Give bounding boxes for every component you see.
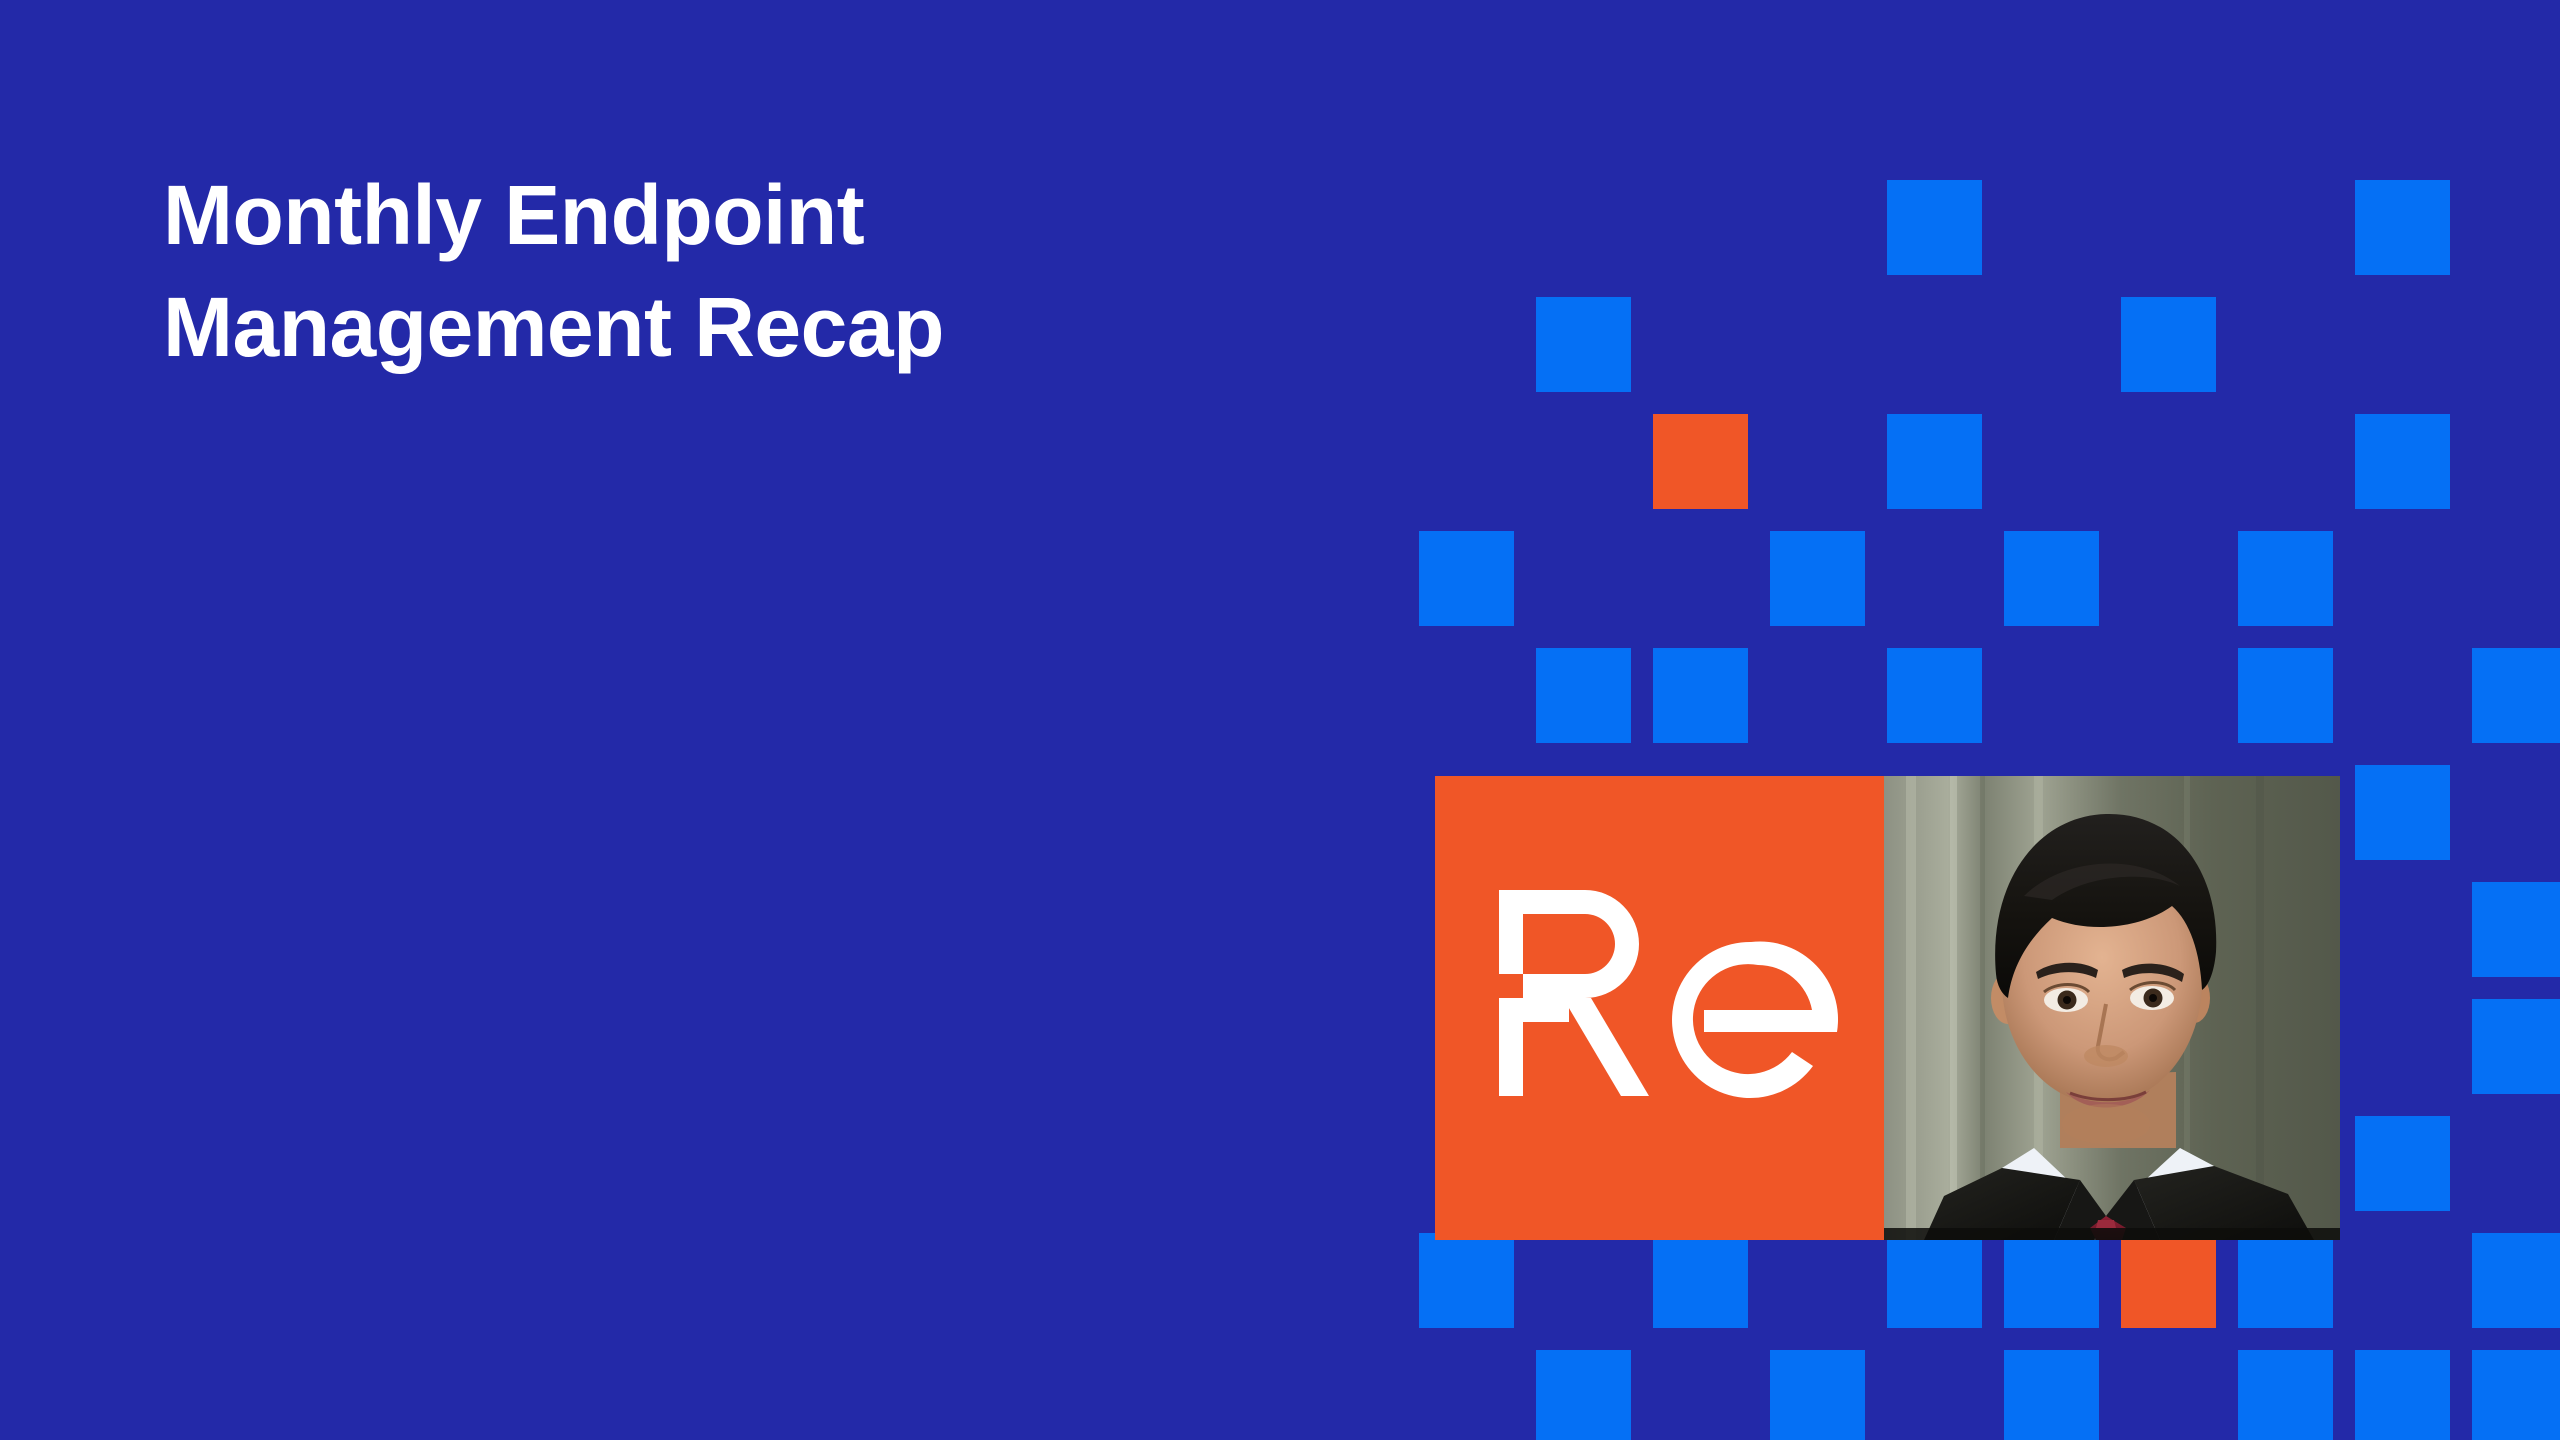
grid-square	[1419, 531, 1514, 626]
grid-square	[2472, 999, 2560, 1094]
grid-square	[1770, 1350, 1865, 1440]
grid-square	[2472, 882, 2560, 977]
grid-square	[2472, 1350, 2560, 1440]
grid-square	[2004, 1233, 2099, 1328]
grid-square	[1887, 648, 1982, 743]
grid-square	[2121, 1233, 2216, 1328]
grid-square	[2355, 1116, 2450, 1211]
grid-square	[1419, 1233, 1514, 1328]
page-title: Monthly Endpoint Management Recap	[163, 160, 1313, 383]
grid-square	[2355, 414, 2450, 509]
grid-square	[2238, 648, 2333, 743]
grid-square	[2355, 1350, 2450, 1440]
grid-square	[2238, 531, 2333, 626]
grid-square	[2238, 1350, 2333, 1440]
page-title-line-1: Monthly Endpoint	[163, 160, 1313, 272]
speaker-portrait-image	[1884, 776, 2340, 1240]
grid-square	[1536, 648, 1631, 743]
grid-square	[1887, 180, 1982, 275]
grid-square	[2355, 765, 2450, 860]
grid-square	[1887, 414, 1982, 509]
grid-square	[1653, 1233, 1748, 1328]
grid-square	[1887, 1233, 1982, 1328]
grid-square	[2355, 180, 2450, 275]
grid-square	[1653, 648, 1748, 743]
recast-logo-tile	[1435, 776, 1884, 1240]
page-title-line-2: Management Recap	[163, 272, 1313, 384]
brand-and-portrait-cluster	[1435, 776, 2340, 1240]
grid-square	[1653, 414, 1748, 509]
re-wordmark-icon	[1435, 776, 1884, 1240]
grid-square	[2472, 1233, 2560, 1328]
grid-square	[2121, 297, 2216, 392]
grid-square	[1536, 1350, 1631, 1440]
grid-square	[2472, 648, 2560, 743]
grid-square	[1770, 531, 1865, 626]
slide-canvas: Monthly Endpoint Management Recap	[0, 0, 2560, 1440]
speaker-portrait	[1884, 776, 2340, 1240]
grid-square	[2238, 1233, 2333, 1328]
grid-square	[2004, 1350, 2099, 1440]
grid-square	[2004, 531, 2099, 626]
grid-square	[1536, 297, 1631, 392]
